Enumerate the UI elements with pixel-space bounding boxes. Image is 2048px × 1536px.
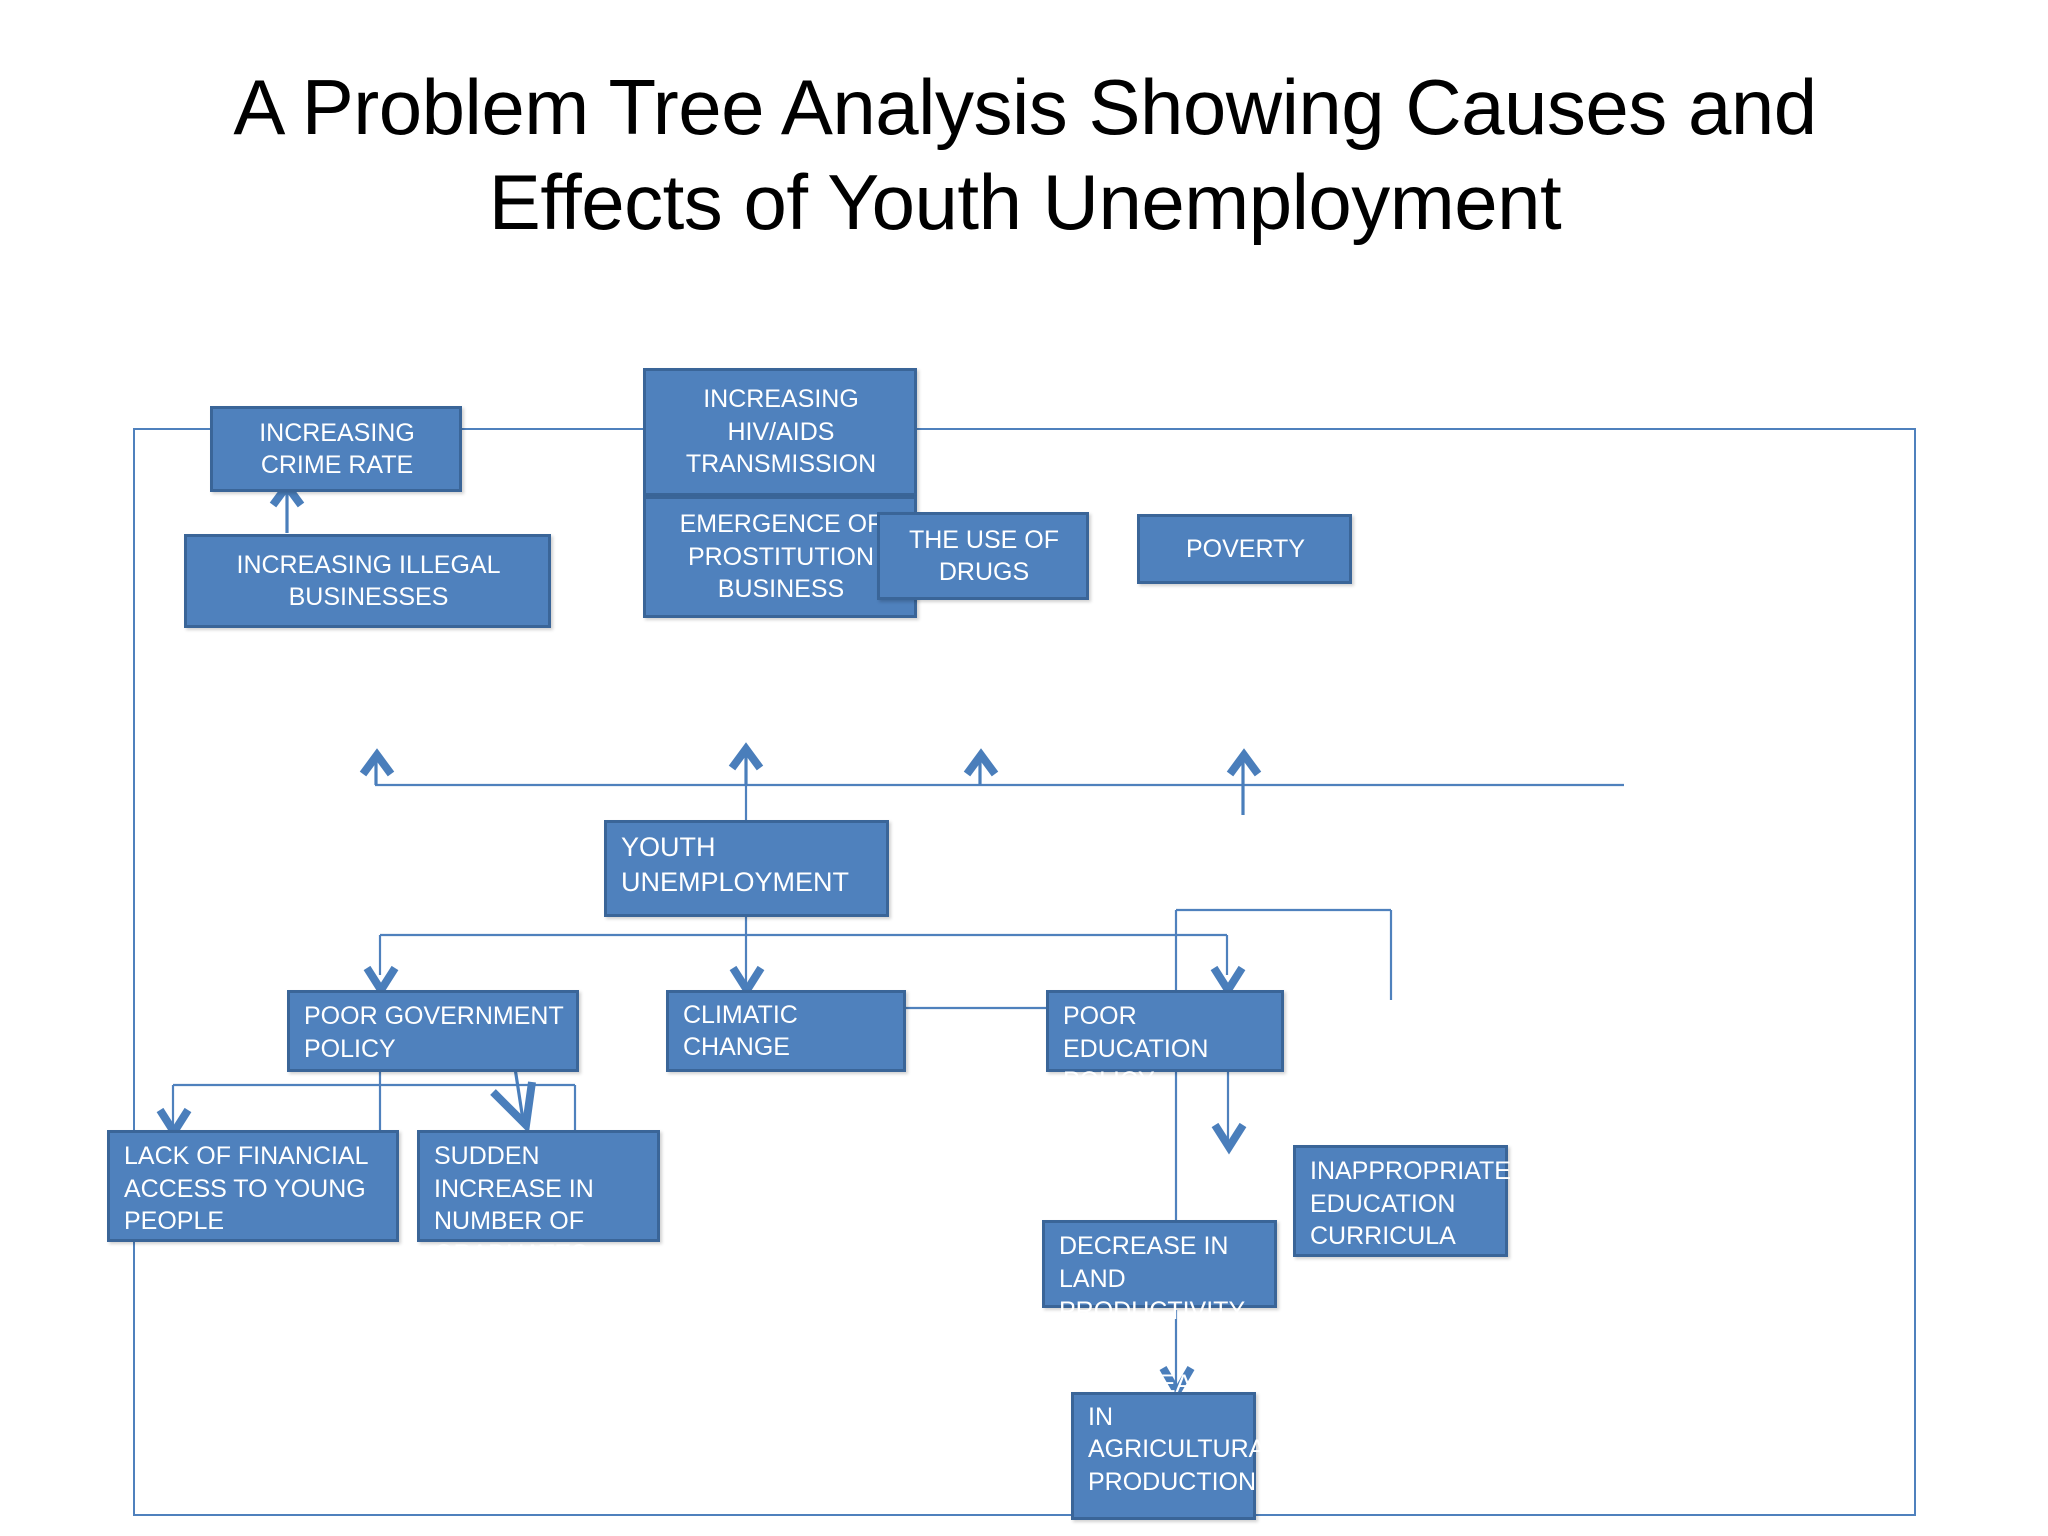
- node-label: DECREASE IN AGRICULTURAL PRODUCTION: [1088, 1368, 1241, 1498]
- node-inappropriate-education-curricula[interactable]: INAPPROPRIATE EDUCATION CURRICULA: [1293, 1145, 1508, 1257]
- node-label: POOR EDUCATION POLICY: [1063, 1000, 1269, 1098]
- node-label: POVERTY: [1154, 533, 1337, 566]
- node-decrease-in-agricultural-production[interactable]: DECREASE IN AGRICULTURAL PRODUCTION: [1071, 1392, 1256, 1520]
- node-poor-education-policy[interactable]: POOR EDUCATION POLICY: [1046, 990, 1284, 1072]
- node-poverty[interactable]: POVERTY: [1137, 514, 1352, 584]
- node-label: INCREASING CRIME RATE: [227, 417, 447, 482]
- node-label: THE USE OF DRUGS: [894, 524, 1074, 589]
- node-label: INAPPROPRIATE EDUCATION CURRICULA: [1310, 1155, 1493, 1253]
- page-title: A Problem Tree Analysis Showing Causes a…: [120, 60, 1930, 250]
- node-poor-government-policy[interactable]: POOR GOVERNMENT POLICY: [287, 990, 579, 1072]
- node-increasing-crime-rate[interactable]: INCREASING CRIME RATE: [210, 406, 462, 492]
- node-label: DECREASE IN LAND PRODUCTIVITY: [1059, 1230, 1262, 1328]
- node-youth-unemployment[interactable]: YOUTH UNEMPLOYMENT: [604, 820, 889, 917]
- node-increasing-hiv-aids-transmission[interactable]: INCREASING HIV/AIDS TRANSMISSION: [643, 368, 917, 496]
- problem-tree-diagram: INCREASING CRIME RATE INCREASING ILLEGAL…: [133, 428, 1916, 1516]
- node-label: YOUTH UNEMPLOYMENT: [621, 830, 874, 900]
- node-label: INCREASING ILLEGAL BUSINESSES: [201, 549, 536, 614]
- node-label: EMERGENCE OF PROSTITUTION BUSINESS: [660, 508, 902, 606]
- node-climatic-change[interactable]: CLIMATIC CHANGE: [666, 990, 906, 1072]
- node-emergence-of-prostitution-business[interactable]: EMERGENCE OF PROSTITUTION BUSINESS: [643, 496, 917, 618]
- node-label: POOR GOVERNMENT POLICY: [304, 1000, 564, 1065]
- node-lack-of-financial-access-to-young-people[interactable]: LACK OF FINANCIAL ACCESS TO YOUNG PEOPLE: [107, 1130, 399, 1242]
- node-sudden-increase-in-number-of-graduates[interactable]: SUDDEN INCREASE IN NUMBER OF GRADUATES: [417, 1130, 660, 1242]
- node-increasing-illegal-businesses[interactable]: INCREASING ILLEGAL BUSINESSES: [184, 534, 551, 628]
- node-decrease-in-land-productivity[interactable]: DECREASE IN LAND PRODUCTIVITY: [1042, 1220, 1277, 1308]
- node-label: CLIMATIC CHANGE: [683, 999, 891, 1064]
- node-label: LACK OF FINANCIAL ACCESS TO YOUNG PEOPLE: [124, 1140, 384, 1238]
- node-the-use-of-drugs[interactable]: THE USE OF DRUGS: [877, 512, 1089, 600]
- node-label: INCREASING HIV/AIDS TRANSMISSION: [660, 383, 902, 481]
- node-label: SUDDEN INCREASE IN NUMBER OF GRADUATES: [434, 1140, 645, 1270]
